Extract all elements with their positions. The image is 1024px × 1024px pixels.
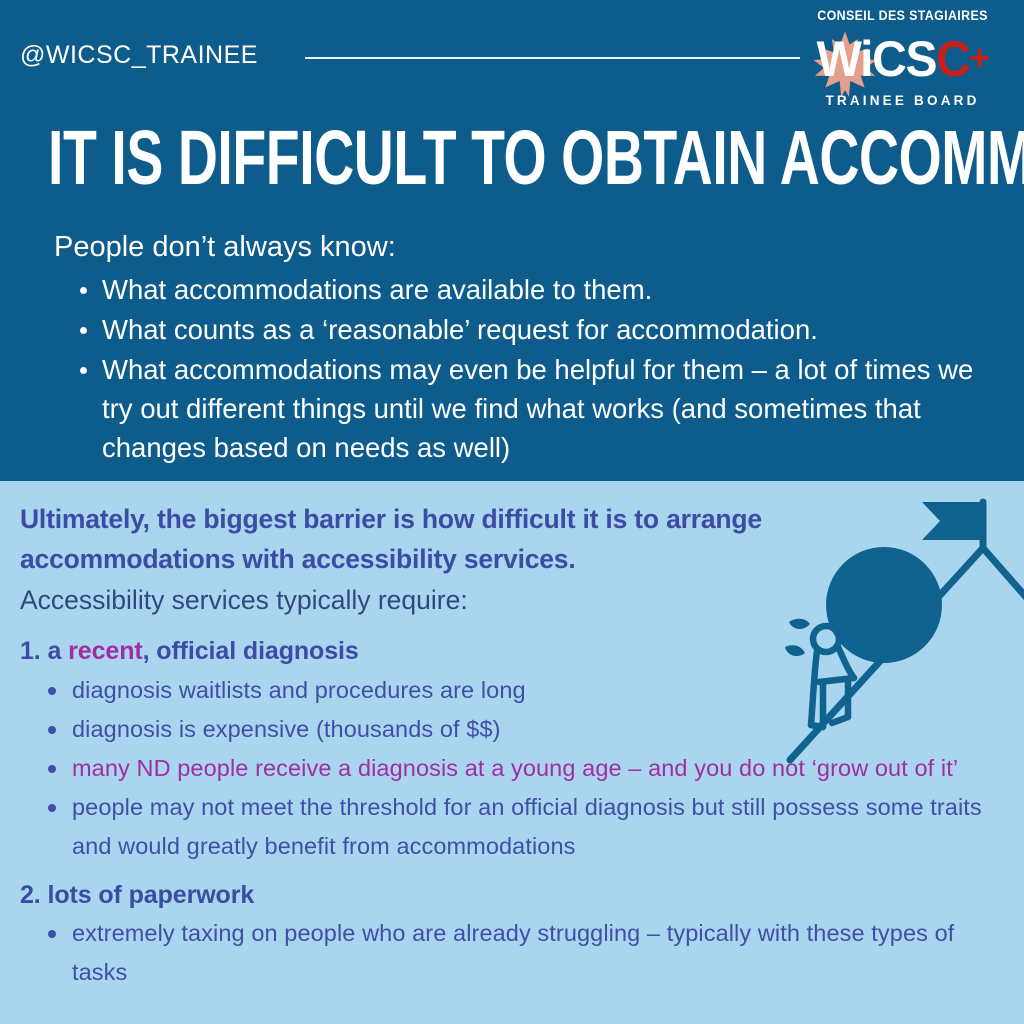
bullet-dot-icon bbox=[48, 726, 56, 734]
logo-word-red: C bbox=[936, 31, 969, 87]
bottom-section: Ultimately, the biggest barrier is how d… bbox=[0, 481, 1024, 1024]
logo-subtitle: TRAINEE BOARD bbox=[795, 93, 1010, 108]
requirement-1-heading: 1. a recent, official diagnosis bbox=[20, 637, 359, 666]
list-item: diagnosis waitlists and procedures are l… bbox=[38, 671, 1003, 710]
logo-tagline-french: CONSEIL DES STAGIAIRES bbox=[804, 8, 1002, 23]
list-item-text: extremely taxing on people who are alrea… bbox=[72, 920, 954, 985]
list-item: many ND people receive a diagnosis at a … bbox=[38, 749, 1003, 788]
wicsc-logo: CONSEIL DES STAGIAIRES WiCSC+ TRAINEE BO… bbox=[795, 8, 1010, 112]
bullet-dot-icon bbox=[80, 287, 87, 294]
requirement-1-bullets: diagnosis waitlists and procedures are l… bbox=[38, 671, 1003, 866]
requirement-1-prefix: 1. a bbox=[20, 637, 68, 665]
requirement-1-highlight: recent bbox=[68, 637, 142, 665]
header-divider bbox=[305, 57, 800, 59]
list-item-text: What accommodations are available to the… bbox=[102, 274, 652, 305]
list-item-text: many ND people receive a diagnosis at a … bbox=[72, 755, 958, 781]
list-item-text: What accommodations may even be helpful … bbox=[102, 354, 973, 463]
bullet-dot-icon bbox=[48, 687, 56, 695]
list-item: diagnosis is expensive (thousands of $$) bbox=[38, 710, 1003, 749]
bullet-dot-icon bbox=[48, 804, 56, 812]
page-title: IT IS DIFFICULT TO OBTAIN ACCOMMODATIONS… bbox=[48, 118, 893, 199]
list-item-text: diagnosis waitlists and procedures are l… bbox=[72, 677, 526, 703]
list-item-text: What counts as a ‘reasonable’ request fo… bbox=[102, 314, 818, 345]
logo-wordmark: WiCSC+ bbox=[799, 30, 1005, 87]
requirement-1-suffix: , official diagnosis bbox=[143, 637, 359, 665]
intro-bullet-list: What accommodations are available to the… bbox=[54, 270, 994, 467]
bullet-dot-icon bbox=[80, 367, 87, 374]
requirements-intro: Accessibility services typically require… bbox=[20, 585, 468, 616]
list-item: people may not meet the threshold for an… bbox=[38, 788, 1003, 866]
poster-canvas: @WICSC_TRAINEE CONSEIL DES STAGIAIRES Wi… bbox=[0, 0, 1024, 1024]
bullet-dot-icon bbox=[48, 930, 56, 938]
requirement-2-bullets: extremely taxing on people who are alrea… bbox=[38, 914, 1003, 992]
list-item-text: people may not meet the threshold for an… bbox=[72, 794, 982, 859]
list-item: What counts as a ‘reasonable’ request fo… bbox=[54, 310, 994, 349]
list-item: extremely taxing on people who are alrea… bbox=[38, 914, 1003, 992]
list-item: What accommodations are available to the… bbox=[54, 270, 994, 309]
barrier-heading: Ultimately, the biggest barrier is how d… bbox=[20, 499, 910, 579]
bullet-dot-icon bbox=[48, 765, 56, 773]
requirement-2-heading: 2. lots of paperwork bbox=[20, 881, 254, 910]
social-handle: @WICSC_TRAINEE bbox=[20, 41, 258, 70]
intro-lead-text: People don’t always know: bbox=[54, 228, 994, 266]
intro-block: People don’t always know: What accommoda… bbox=[54, 228, 994, 468]
top-section: @WICSC_TRAINEE CONSEIL DES STAGIAIRES Wi… bbox=[0, 0, 1024, 481]
logo-word-plus: + bbox=[970, 37, 989, 78]
list-item-text: diagnosis is expensive (thousands of $$) bbox=[72, 716, 501, 742]
logo-word-white: WiCS bbox=[817, 31, 937, 87]
bullet-dot-icon bbox=[80, 327, 87, 334]
list-item: What accommodations may even be helpful … bbox=[54, 350, 994, 467]
